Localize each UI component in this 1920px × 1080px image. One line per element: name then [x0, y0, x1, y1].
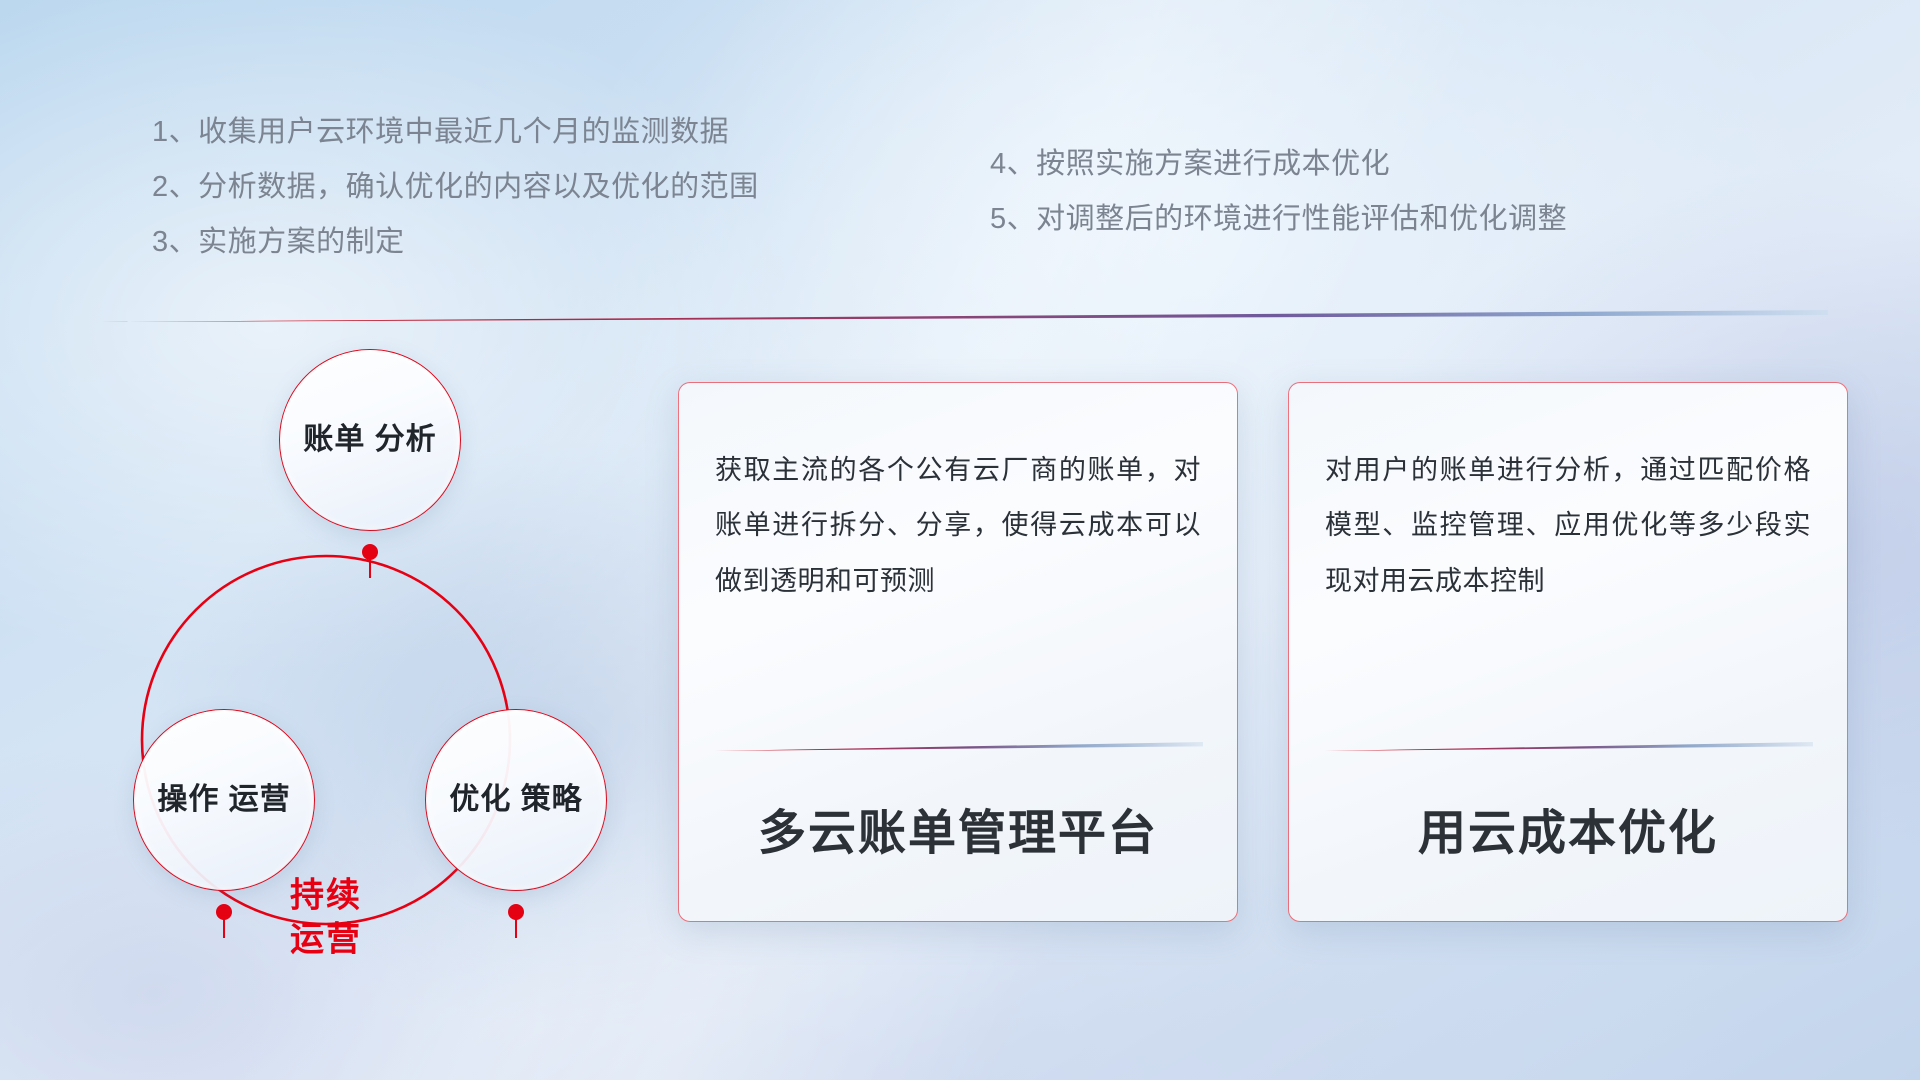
venn-bubble-label-operations: 操作 运营	[157, 780, 290, 820]
card-multi-cloud-bill-platform[interactable]: 获取主流的各个公有云厂商的账单，对账单进行拆分、分享，使得云成本可以做到透明和可…	[678, 382, 1238, 922]
venn-bubble-bill-analysis[interactable]: 账单 分析	[280, 350, 460, 530]
card-body-multi-cloud-bill-platform: 获取主流的各个公有云厂商的账单，对账单进行拆分、分享，使得云成本可以做到透明和可…	[715, 443, 1201, 609]
step-item-3: 3、实施方案的制定	[152, 228, 759, 257]
venn-node-top	[362, 544, 378, 560]
card-title-cloud-cost-optimization: 用云成本优化	[1289, 793, 1847, 863]
venn-bubble-label-bill-analysis: 账单 分析	[303, 420, 436, 460]
step-list-right-column: 4、按照实施方案进行成本优化 5、对调整后的环境进行性能评估和优化调整	[990, 150, 1567, 260]
card-body-cloud-cost-optimization: 对用户的账单进行分析，通过匹配价格模型、监控管理、应用优化等多少段实现对用云成本…	[1325, 443, 1811, 609]
venn-bubble-label-optimize-strategy: 优化 策略	[449, 780, 582, 820]
card-title-multi-cloud-bill-platform: 多云账单管理平台	[679, 793, 1237, 863]
venn-node-right	[508, 904, 524, 920]
step-item-4: 4、按照实施方案进行成本优化	[990, 150, 1567, 179]
step-item-5: 5、对调整后的环境进行性能评估和优化调整	[990, 205, 1567, 234]
step-list-left-column: 1、收集用户云环境中最近几个月的监测数据 2、分析数据，确认优化的内容以及优化的…	[152, 118, 759, 283]
section-divider	[100, 310, 1828, 322]
section-divider-bar	[100, 310, 1828, 322]
venn-diagram: 账单 分析 操作 运营 优化 策略 持续 运营	[96, 340, 656, 960]
card-divider-multi-cloud-bill-platform	[715, 742, 1203, 751]
step-item-1: 1、收集用户云环境中最近几个月的监测数据	[152, 118, 759, 147]
venn-center-label: 持续 运营	[216, 874, 436, 961]
card-divider-cloud-cost-optimization	[1325, 742, 1813, 751]
venn-bubble-operations[interactable]: 操作 运营	[134, 710, 314, 890]
card-cloud-cost-optimization[interactable]: 对用户的账单进行分析，通过匹配价格模型、监控管理、应用优化等多少段实现对用云成本…	[1288, 382, 1848, 922]
venn-bubble-optimize-strategy[interactable]: 优化 策略	[426, 710, 606, 890]
step-item-2: 2、分析数据，确认优化的内容以及优化的范围	[152, 173, 759, 202]
